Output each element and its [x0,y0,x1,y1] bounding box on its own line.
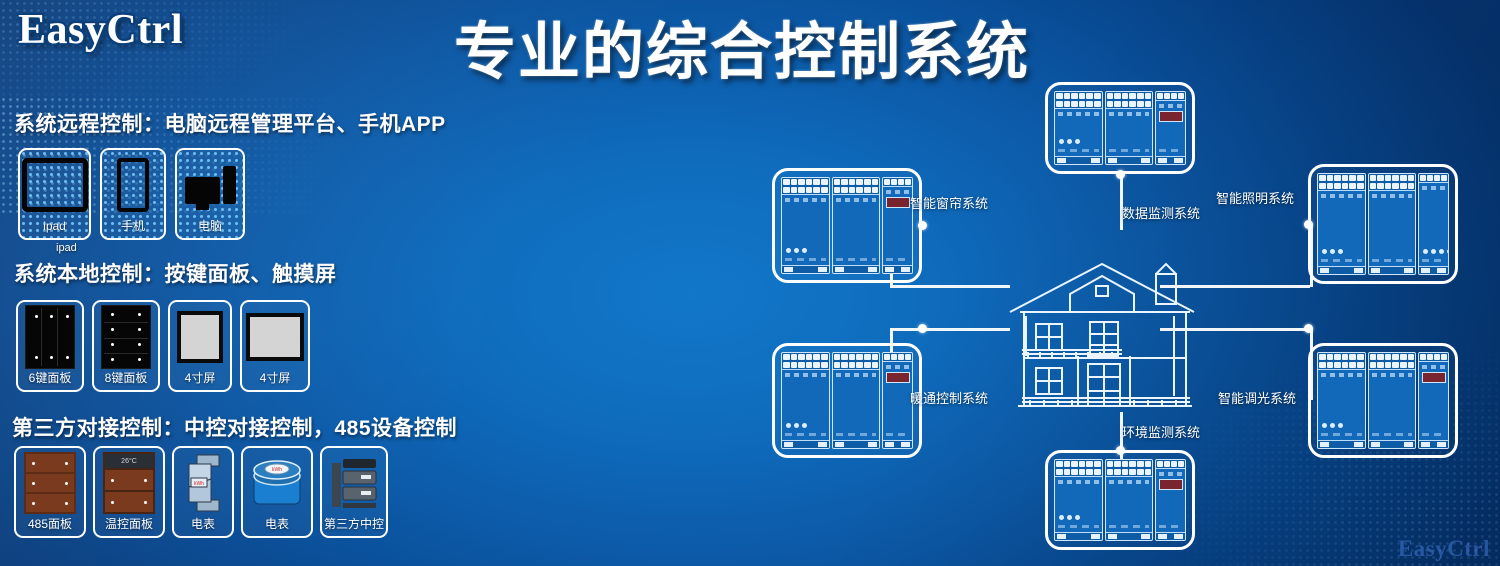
panel-card-screen4a[interactable]: 4寸屏 [168,300,232,392]
device-card-third-party-controller[interactable]: 第三方中控 [320,446,388,538]
touch-screen-icon [170,302,230,372]
controller-module-icon [1311,167,1455,281]
third-party-controller-svg [328,453,380,513]
connector-dot-hvac [918,324,927,333]
diagram-label-hvac: 暖通控制系统 [910,388,988,407]
diagram-label-curtain: 智能窗帘系统 [910,193,988,212]
panel-card-label: 4寸屏 [260,372,291,390]
svg-text:kWh: kWh [272,467,282,473]
connector-dot-environment [1116,446,1125,455]
eight-key-panel-icon [94,302,158,372]
panel-card-6key[interactable]: 6键面板 [16,300,84,392]
desktop-computer-icon [177,150,243,220]
device-card-label: 温控面板 [105,518,153,536]
ipad-subcaption: ipad [56,242,77,254]
device-card-meter-round[interactable]: kWh 电表 [241,446,313,538]
round-meter-svg: kWh [249,454,305,512]
touch-screen-wide-icon [242,302,308,372]
card-row-thirdparty: 485面板 26°C 温控面板 kWh [14,446,388,538]
device-card-label: 电表 [191,518,215,536]
controller-module-icon [1048,453,1192,547]
thermostat-display: 26°C [105,454,153,468]
diagram-node-curtain[interactable] [772,168,922,283]
device-card-label: 手机 [121,220,145,238]
round-meter-icon: kWh [243,448,311,518]
section-heading-local: 系统本地控制：按键面板、触摸屏 [14,258,337,288]
third-party-controller-icon [322,448,386,518]
thermostat-panel-icon: 26°C [95,448,163,518]
energy-meter-icon: kWh [174,448,232,518]
controller-module-icon [1311,346,1455,455]
device-card-meter-din[interactable]: kWh 电表 [172,446,234,538]
diagram-node-hvac[interactable] [772,343,922,458]
svg-text:kWh: kWh [194,481,204,487]
device-card-label: 电脑 [198,220,222,238]
energy-meter-svg: kWh [181,452,225,514]
device-card-label: 电表 [265,518,289,536]
panel-card-8key[interactable]: 8键面板 [92,300,160,392]
device-card-pc[interactable]: 电脑 [175,148,245,240]
diagram-node-data[interactable] [1045,82,1195,174]
house-icon [998,246,1214,416]
rs485-panel-icon [16,448,84,518]
six-key-panel-icon [18,302,82,372]
diagram-label-dimming: 智能调光系统 [1218,388,1296,407]
panel-card-label: 8键面板 [105,372,148,390]
connector-dot-data [1116,170,1125,179]
section-heading-remote: 系统远程控制：电脑远程管理平台、手机APP [14,108,446,138]
poster-canvas: EasyCtrl 专业的综合控制系统 系统远程控制：电脑远程管理平台、手机APP… [0,0,1500,566]
diagram-node-environment[interactable] [1045,450,1195,550]
connector-dot-lighting [1304,220,1313,229]
device-card-label: 485面板 [28,518,72,536]
card-row-remote: ipad 手机 电脑 [18,148,245,240]
brand-logo: EasyCtrl [18,6,183,54]
tablet-icon [20,150,89,220]
diagram-label-environment: 环境监测系统 [1122,422,1200,441]
diagram-node-dimming[interactable] [1308,343,1458,458]
device-card-label: ipad [43,220,66,238]
controller-module-icon [1048,85,1192,171]
smartphone-icon [102,150,164,220]
device-card-phone[interactable]: 手机 [100,148,166,240]
device-card-485panel[interactable]: 485面板 [14,446,86,538]
panel-card-label: 4寸屏 [185,372,216,390]
diagram-node-lighting[interactable] [1308,164,1458,284]
connector-dot-curtain [918,221,927,230]
controller-module-icon [775,346,919,455]
panel-card-screen4b[interactable]: 4寸屏 [240,300,310,392]
device-card-ipad[interactable]: ipad [18,148,91,240]
diagram-label-data: 数据监测系统 [1122,203,1200,222]
section-heading-thirdparty: 第三方对接控制：中控对接控制，485设备控制 [12,412,457,442]
wire-curtain-h [890,285,1010,288]
system-topology-diagram: 智能窗帘系统 数据监测系统 智能照明系统 [740,60,1500,566]
watermark: EasyCtrl [1398,536,1490,562]
controller-module-icon [775,171,919,280]
diagram-label-lighting: 智能照明系统 [1216,188,1294,207]
device-card-label: 第三方中控 [324,518,384,536]
wire-hvac-h [890,328,1010,331]
connector-dot-dimming [1304,324,1313,333]
device-card-thermostat[interactable]: 26°C 温控面板 [93,446,165,538]
panel-card-label: 6键面板 [29,372,72,390]
card-row-local: 6键面板 8键面板 4寸屏 4寸屏 [16,300,310,392]
page-title: 专业的综合控制系统 [452,22,1032,84]
